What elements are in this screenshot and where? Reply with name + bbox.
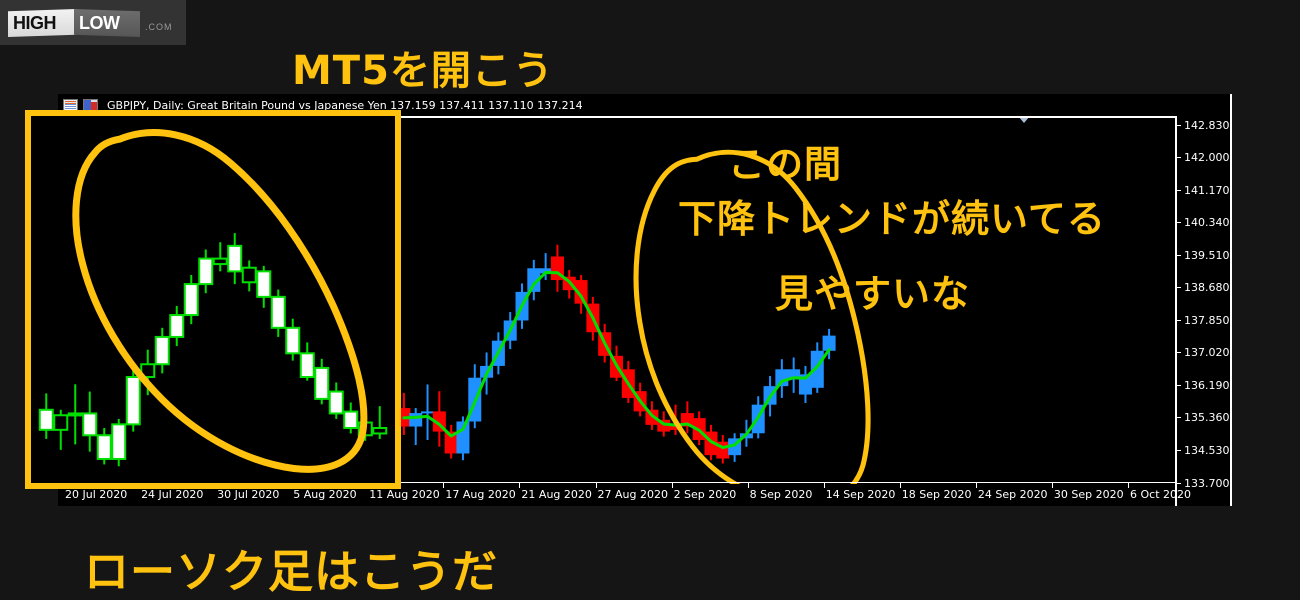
price-axis-tick: 142.830 [1177,119,1230,131]
axis-tick-mark [748,483,749,488]
axis-tick-mark [1177,190,1181,191]
axis-tick-mark [1177,255,1181,256]
candlestick-zoom-panel[interactable] [25,110,401,489]
candle-body [112,424,125,459]
candle-body [301,353,314,377]
candle-body [54,415,67,430]
time-axis-tick-label: 21 Aug 2020 [521,488,591,501]
price-axis-tick: 142.000 [1177,152,1230,164]
candle-body [170,315,183,337]
time-axis-tick-label: 17 Aug 2020 [445,488,515,501]
axis-tick-mark [596,483,597,488]
screenshot-root: HIGH LOW .COM MT5を開こう GBPJPY, Daily: Gre… [0,0,1300,600]
candle-body [243,268,256,283]
logo-high-shape: HIGH [8,9,76,37]
candle-body [315,368,328,399]
annotation-open-mt5: MT5を開こう [292,38,554,96]
price-axis-tick: 138.680 [1177,282,1230,294]
time-axis-tick-label: 11 Aug 2020 [369,488,439,501]
price-axis-tick: 136.190 [1177,379,1230,391]
time-axis-tick-label: 30 Jul 2020 [217,488,279,501]
time-axis-tick-label: 2 Sep 2020 [674,488,737,501]
time-axis-tick-label: 20 Jul 2020 [65,488,127,501]
candle-body [40,410,53,430]
price-axis-tick: 137.850 [1177,314,1230,326]
price-axis-tick-label: 135.360 [1184,411,1230,424]
candle-body [344,412,357,428]
price-axis-tick: 134.530 [1177,444,1230,456]
axis-tick-mark [1177,450,1181,451]
price-axis-tick-label: 141.170 [1184,184,1230,197]
candle-body [69,413,82,415]
axis-tick-mark [672,483,673,488]
axis-tick-mark [1177,320,1181,321]
candle-body [199,259,212,285]
axis-tick-mark [1177,417,1181,418]
axis-tick-mark [1177,385,1181,386]
annotation-downtrend-continues: 下降トレンドが続いてる [678,188,1106,243]
time-axis-tick-label: 24 Jul 2020 [141,488,203,501]
highlow-logo: HIGH LOW .COM [0,0,186,45]
candle-body [286,328,299,354]
candle-body [257,271,270,297]
candle-body [272,297,285,328]
price-axis-tick: 137.020 [1177,347,1230,359]
price-axis-tick-label: 142.000 [1184,151,1230,164]
time-axis-tick-label: 6 Oct 2020 [1130,488,1191,501]
price-axis-tick-label: 136.190 [1184,379,1230,392]
zoomed-candlestick-plot [31,116,395,483]
axis-tick-mark [1177,483,1181,484]
logo-low-shape: LOW [74,9,140,37]
candle-body [83,413,96,435]
time-axis-tick-label: 24 Sep 2020 [978,488,1048,501]
candle-body [330,392,343,414]
time-axis-tick-label: 18 Sep 2020 [902,488,972,501]
logo-high-text: HIGH [13,13,56,34]
candle-body [127,377,140,424]
logo-dotcom-text: .COM [145,22,173,32]
axis-tick-mark [1128,483,1129,488]
candle-body [373,428,386,433]
zoom-candlestick-series [40,233,387,466]
axis-tick-mark [900,483,901,488]
price-axis-tick-label: 134.530 [1184,444,1230,457]
price-axis-tick: 135.360 [1177,412,1230,424]
candle-body [214,259,227,264]
annotation-candlesticks-like-this: ローソク足はこうだ [84,535,498,600]
price-axis-tick-label: 138.680 [1184,281,1230,294]
logo-low-text: LOW [79,13,120,34]
price-axis-tick-label: 137.850 [1184,314,1230,327]
axis-tick-mark [1177,352,1181,353]
candle-body [156,337,169,364]
candle-body [185,284,198,315]
axis-tick-mark [1052,483,1053,488]
time-axis-tick-label: 27 Aug 2020 [598,488,668,501]
axis-tick-mark [976,483,977,488]
price-axis-tick: 141.170 [1177,184,1230,196]
price-axis-tick: 140.340 [1177,217,1230,229]
price-axis-tick-label: 142.830 [1184,119,1230,132]
candle-body [228,246,241,272]
time-axis-tick-label: 14 Sep 2020 [826,488,896,501]
price-axis-tick: 139.510 [1177,249,1230,261]
axis-tick-mark [824,483,825,488]
price-axis-tick-label: 140.340 [1184,216,1230,229]
candle-body [409,413,422,426]
annotation-this-period: この間 [728,134,842,188]
axis-tick-mark [519,483,520,488]
time-axis-tick-label: 30 Sep 2020 [1054,488,1124,501]
axis-tick-mark [1177,125,1181,126]
time-axis-tick-label: 8 Sep 2020 [750,488,813,501]
price-axis-tick-label: 139.510 [1184,249,1230,262]
time-axis-tick-label: 5 Aug 2020 [293,488,356,501]
price-axis: 142.830142.000141.170140.340139.510138.6… [1175,116,1232,506]
axis-tick-mark [1177,157,1181,158]
price-axis-tick-label: 137.020 [1184,346,1230,359]
candle-body [98,435,111,459]
axis-tick-mark [1177,222,1181,223]
candle-body [421,411,434,413]
annotation-easy-to-see: 見やすいな [775,263,970,318]
axis-tick-mark [443,483,444,488]
axis-tick-mark [1177,287,1181,288]
